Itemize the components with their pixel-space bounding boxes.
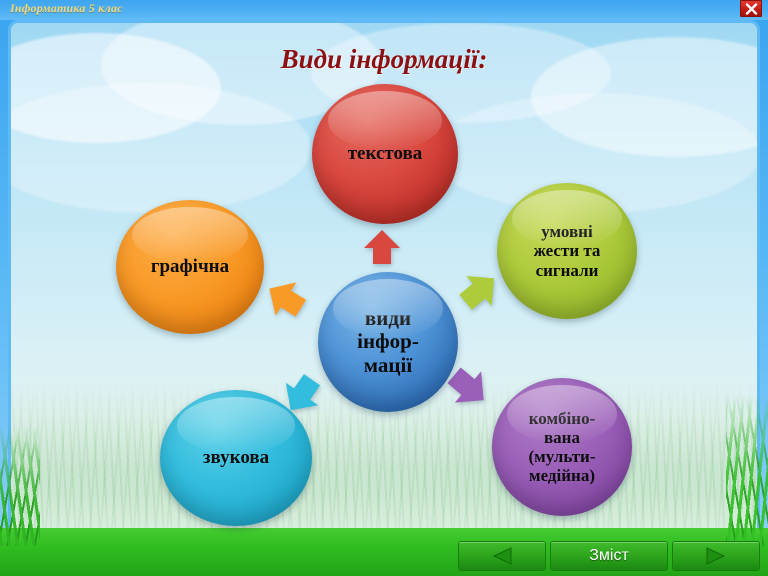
page-title: Види інформації:: [0, 44, 768, 75]
next-slide-button[interactable]: [672, 541, 760, 571]
arrow-up-left-icon: [262, 275, 310, 328]
node-textual[interactable]: текстова: [312, 84, 458, 224]
node-multimedia[interactable]: комбіно- вана (мульти- медійна): [492, 378, 632, 516]
node-sound-label: звукова: [195, 447, 277, 468]
node-multimedia-label: комбіно- вана (мульти- медійна): [520, 409, 603, 485]
contents-button-label: Зміст: [589, 547, 629, 565]
node-center-label: види інфор- мації: [349, 307, 427, 378]
presentation-window: Інформатика 5 клас Види інформації:: [0, 0, 768, 576]
triangle-left-icon: [491, 547, 513, 565]
node-sound[interactable]: звукова: [160, 390, 312, 526]
close-x-icon: [745, 3, 758, 15]
arrow-up-right-icon: [455, 267, 503, 320]
node-graphic-label: графічна: [143, 256, 237, 277]
node-textual-label: текстова: [340, 143, 431, 164]
cloud-icon: [8, 83, 311, 213]
grass-tuft-icon: [726, 396, 768, 546]
node-center[interactable]: види інфор- мації: [318, 272, 458, 412]
arrow-up-icon: [360, 226, 404, 275]
node-signs-label: умовні жести та сигнали: [526, 222, 609, 279]
node-graphic[interactable]: графічна: [116, 200, 264, 334]
triangle-right-icon: [705, 547, 727, 565]
close-button[interactable]: [740, 0, 762, 17]
grass-tuft-icon: [0, 426, 40, 546]
contents-button[interactable]: Зміст: [550, 541, 668, 571]
navigation-bar: Зміст: [0, 535, 768, 576]
previous-slide-button[interactable]: [458, 541, 546, 571]
window-title: Інформатика 5 клас: [10, 1, 123, 16]
node-signs[interactable]: умовні жести та сигнали: [497, 183, 637, 319]
title-bar: Інформатика 5 клас: [0, 0, 768, 20]
